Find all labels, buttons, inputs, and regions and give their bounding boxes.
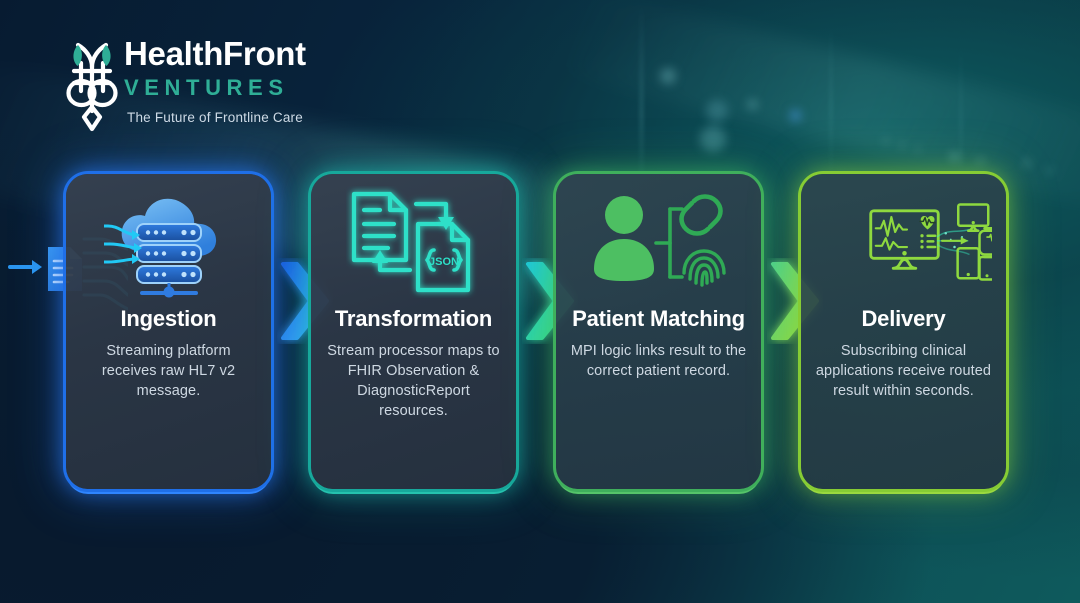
cloud-server-rack-icon	[80, 178, 257, 306]
plant-caduceus-logo-icon	[64, 33, 120, 142]
background-light-beam	[640, 0, 643, 190]
background-particle	[951, 153, 958, 160]
background-light-beam	[960, 40, 962, 190]
card-title: Transformation	[335, 306, 492, 332]
brand-wordmark: HealthFront VENTURES The Future of Front…	[124, 34, 306, 128]
background-particle	[916, 147, 920, 151]
background-particle	[900, 143, 904, 147]
document-to-json-conversion-icon: JSON	[325, 178, 502, 306]
process-flow-diagram: Ingestion Streaming platform receives ra…	[0, 170, 1080, 495]
background-particle	[700, 126, 726, 152]
card-description: Streaming platform receives raw HL7 v2 m…	[80, 341, 257, 401]
card-title: Ingestion	[121, 306, 217, 332]
infographic-canvas: HealthFront VENTURES The Future of Front…	[0, 0, 1080, 603]
flow-step-card-ingestion[interactable]: Ingestion Streaming platform receives ra…	[66, 174, 271, 489]
background-particle	[748, 100, 757, 109]
flow-step-card-transformation[interactable]: JSON Transformation Stream processor map…	[311, 174, 516, 489]
json-label: JSON	[429, 256, 459, 268]
card-description: Subscribing clinical applications receiv…	[815, 341, 992, 401]
background-particle	[790, 110, 801, 121]
brand-tagline: The Future of Frontline Care	[127, 108, 306, 128]
background-particle	[706, 100, 728, 122]
ecg-monitor-multi-device-icon	[815, 178, 992, 306]
card-title: Delivery	[861, 306, 945, 332]
background-particle	[1024, 160, 1030, 166]
brand-logo-block: HealthFront VENTURES The Future of Front…	[64, 33, 384, 143]
background-particle	[884, 139, 888, 143]
card-description: Stream processor maps to FHIR Observatio…	[325, 341, 502, 421]
card-description: MPI logic links result to the correct pa…	[570, 341, 747, 381]
brand-subname: VENTURES	[124, 74, 306, 102]
flow-step-card-patient-matching[interactable]: Patient Matching MPI logic links result …	[556, 174, 761, 489]
card-title: Patient Matching	[572, 306, 745, 332]
flow-step-card-delivery[interactable]: Delivery Subscribing clinical applicatio…	[801, 174, 1006, 489]
brand-name: HealthFront	[124, 34, 306, 74]
background-particle	[978, 158, 983, 163]
background-light-beam	[830, 20, 832, 180]
arrow-right-icon	[10, 260, 42, 274]
background-particle	[660, 68, 676, 84]
person-link-fingerprint-icon	[570, 178, 747, 306]
